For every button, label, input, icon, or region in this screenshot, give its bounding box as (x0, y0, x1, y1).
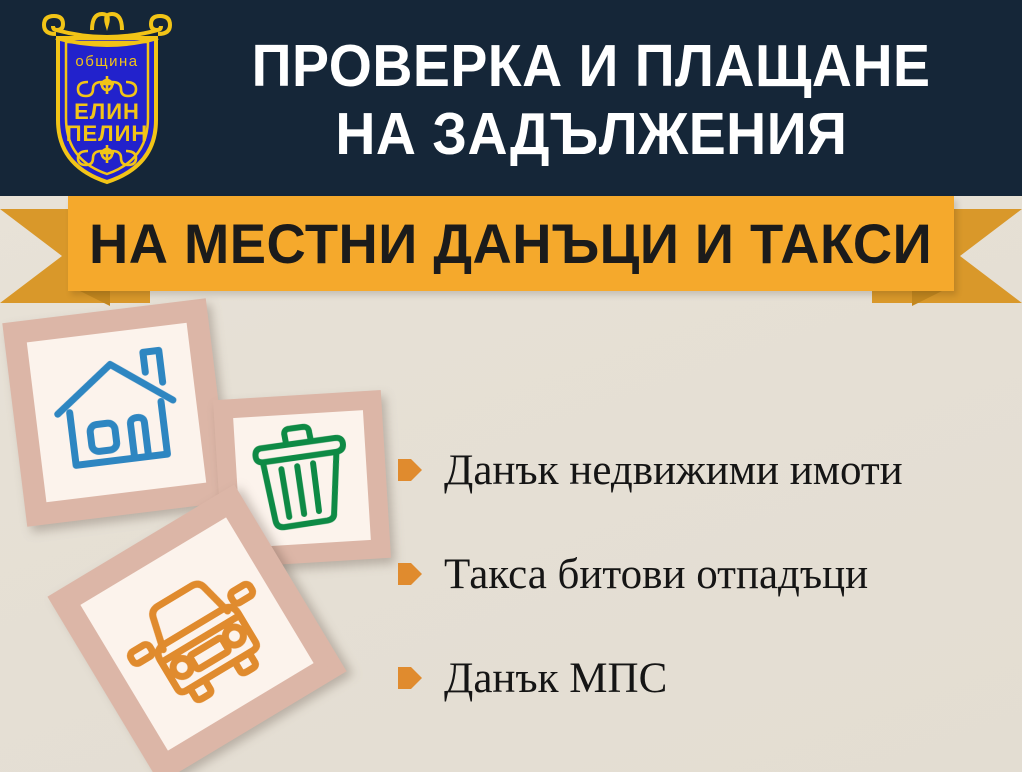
stamp-card-property (2, 298, 230, 526)
list-item-label: Данък недвижими имоти (444, 449, 903, 492)
poster-canvas: община ЕЛИН ПЕЛИН ПРОВЕРКА И ПЛАЩАНЕ НА … (0, 0, 1022, 772)
coat-of-arms-icon: община ЕЛИН ПЕЛИН (32, 8, 182, 188)
logo-name-line2: ПЕЛИН (66, 121, 149, 146)
page-title: ПРОВЕРКА И ПЛАЩАНЕ НА ЗАДЪЛЖЕНИЯ (186, 20, 996, 180)
page-title-line-1: ПРОВЕРКА И ПЛАЩАНЕ (252, 32, 931, 100)
logo-top-word: община (75, 53, 138, 70)
list-item-label: Такса битови отпадъци (444, 553, 868, 596)
arrow-bullet-icon (398, 457, 422, 483)
stamp-collage (0, 300, 420, 772)
arrow-bullet-icon (398, 561, 422, 587)
list-item-label: Данък МПС (444, 657, 667, 700)
tax-types-list: Данък недвижими имоти Такса битови отпад… (398, 418, 1014, 730)
arrow-bullet-icon (398, 665, 422, 691)
subtitle-ribbon: НА МЕСТНИ ДАНЪЦИ И ТАКСИ (0, 196, 1022, 312)
ribbon-label: НА МЕСТНИ ДАНЪЦИ И ТАКСИ (89, 211, 932, 276)
list-item[interactable]: Данък МПС (398, 626, 1014, 730)
list-item[interactable]: Данък недвижими имоти (398, 418, 1014, 522)
list-item[interactable]: Такса битови отпадъци (398, 522, 1014, 626)
page-title-line-2: НА ЗАДЪЛЖЕНИЯ (335, 100, 847, 168)
ribbon-banner: НА МЕСТНИ ДАНЪЦИ И ТАКСИ (68, 196, 954, 291)
stamp-scallop-frame-property (2, 298, 230, 526)
municipality-logo: община ЕЛИН ПЕЛИН (32, 8, 182, 188)
